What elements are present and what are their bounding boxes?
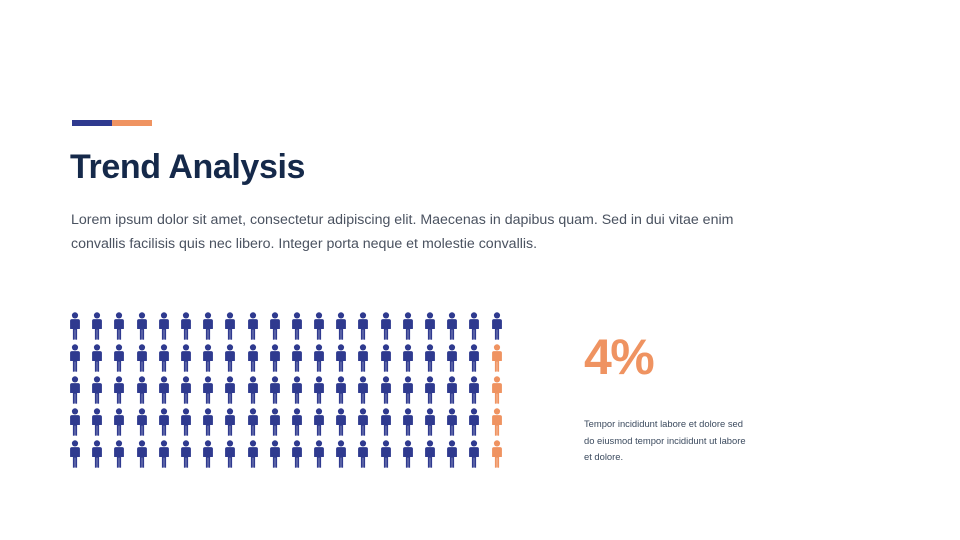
pictogram-person <box>221 376 243 404</box>
pictogram-person <box>399 312 421 340</box>
pictogram-person <box>421 408 443 436</box>
pictogram-person <box>310 408 332 436</box>
stat-caption: Tempor incididunt labore et dolore sed d… <box>584 416 749 466</box>
pictogram-person <box>155 408 177 436</box>
pictogram-person <box>332 344 354 372</box>
pictogram-person <box>465 440 487 468</box>
pictogram-person <box>288 376 310 404</box>
pictogram-person <box>155 376 177 404</box>
pictogram-person <box>354 440 376 468</box>
pictogram-person <box>244 376 266 404</box>
pictogram-person <box>443 376 465 404</box>
pictogram-person <box>332 440 354 468</box>
pictogram-person <box>66 440 88 468</box>
pictogram-person <box>177 344 199 372</box>
pictogram-person <box>110 440 132 468</box>
pictogram-person <box>421 344 443 372</box>
pictogram-person <box>110 312 132 340</box>
pictogram-person <box>332 376 354 404</box>
pictogram-person <box>310 440 332 468</box>
pictogram-person <box>110 408 132 436</box>
pictogram-person <box>266 376 288 404</box>
pictogram-person <box>288 344 310 372</box>
pictogram-person <box>266 408 288 436</box>
accent-bar <box>72 120 152 126</box>
pictogram-person <box>310 376 332 404</box>
pictogram-person <box>310 312 332 340</box>
pictogram-person <box>133 344 155 372</box>
pictogram-person <box>88 440 110 468</box>
pictogram-person <box>266 344 288 372</box>
pictogram-person <box>377 344 399 372</box>
pictogram-person <box>133 408 155 436</box>
pictogram-person <box>443 408 465 436</box>
pictogram-person <box>266 440 288 468</box>
pictogram-person <box>66 376 88 404</box>
pictogram-person <box>133 376 155 404</box>
pictogram-person <box>488 312 510 340</box>
pictogram-chart <box>66 312 510 472</box>
pictogram-person <box>377 408 399 436</box>
pictogram-person <box>332 408 354 436</box>
pictogram-person <box>221 344 243 372</box>
pictogram-person <box>443 312 465 340</box>
pictogram-person <box>199 408 221 436</box>
pictogram-person <box>221 408 243 436</box>
pictogram-person <box>244 440 266 468</box>
pictogram-person <box>399 408 421 436</box>
body-paragraph: Lorem ipsum dolor sit amet, consectetur … <box>71 208 751 257</box>
pictogram-person <box>377 376 399 404</box>
pictogram-person <box>177 440 199 468</box>
pictogram-person <box>465 344 487 372</box>
pictogram-person <box>354 344 376 372</box>
pictogram-person <box>399 376 421 404</box>
pictogram-person <box>177 408 199 436</box>
pictogram-person <box>88 376 110 404</box>
pictogram-person <box>155 312 177 340</box>
pictogram-person <box>244 344 266 372</box>
pictogram-person <box>421 312 443 340</box>
pictogram-person <box>465 312 487 340</box>
stat-block: 4% Tempor incididunt labore et dolore se… <box>584 332 764 382</box>
pictogram-person <box>377 440 399 468</box>
pictogram-person <box>199 376 221 404</box>
pictogram-person <box>443 344 465 372</box>
pictogram-person <box>443 440 465 468</box>
pictogram-person <box>377 312 399 340</box>
pictogram-person <box>244 312 266 340</box>
page-title: Trend Analysis <box>70 148 305 186</box>
pictogram-person <box>488 408 510 436</box>
stat-value: 4% <box>584 332 764 382</box>
pictogram-person <box>199 440 221 468</box>
pictogram-person <box>421 440 443 468</box>
pictogram-person <box>66 408 88 436</box>
pictogram-person <box>66 312 88 340</box>
pictogram-person <box>133 312 155 340</box>
pictogram-person <box>354 312 376 340</box>
accent-bar-left <box>72 120 112 126</box>
pictogram-person <box>421 376 443 404</box>
pictogram-person <box>88 344 110 372</box>
pictogram-person <box>399 344 421 372</box>
pictogram-person <box>110 344 132 372</box>
pictogram-person <box>354 408 376 436</box>
pictogram-person <box>199 312 221 340</box>
pictogram-person <box>244 408 266 436</box>
pictogram-person <box>177 376 199 404</box>
pictogram-person <box>155 440 177 468</box>
pictogram-person <box>88 312 110 340</box>
pictogram-person <box>488 344 510 372</box>
pictogram-person <box>133 440 155 468</box>
pictogram-person <box>155 344 177 372</box>
pictogram-person <box>465 408 487 436</box>
pictogram-person <box>488 440 510 468</box>
pictogram-person <box>221 440 243 468</box>
slide-canvas: Trend Analysis Lorem ipsum dolor sit ame… <box>0 0 960 540</box>
pictogram-person <box>332 312 354 340</box>
pictogram-person <box>399 440 421 468</box>
pictogram-person <box>66 344 88 372</box>
pictogram-person <box>288 312 310 340</box>
pictogram-person <box>354 376 376 404</box>
pictogram-person <box>288 440 310 468</box>
pictogram-person <box>465 376 487 404</box>
pictogram-person <box>266 312 288 340</box>
pictogram-person <box>310 344 332 372</box>
pictogram-person <box>221 312 243 340</box>
pictogram-person <box>288 408 310 436</box>
pictogram-person <box>199 344 221 372</box>
pictogram-person <box>177 312 199 340</box>
pictogram-person <box>88 408 110 436</box>
pictogram-person <box>110 376 132 404</box>
pictogram-person <box>488 376 510 404</box>
accent-bar-right <box>112 120 152 126</box>
